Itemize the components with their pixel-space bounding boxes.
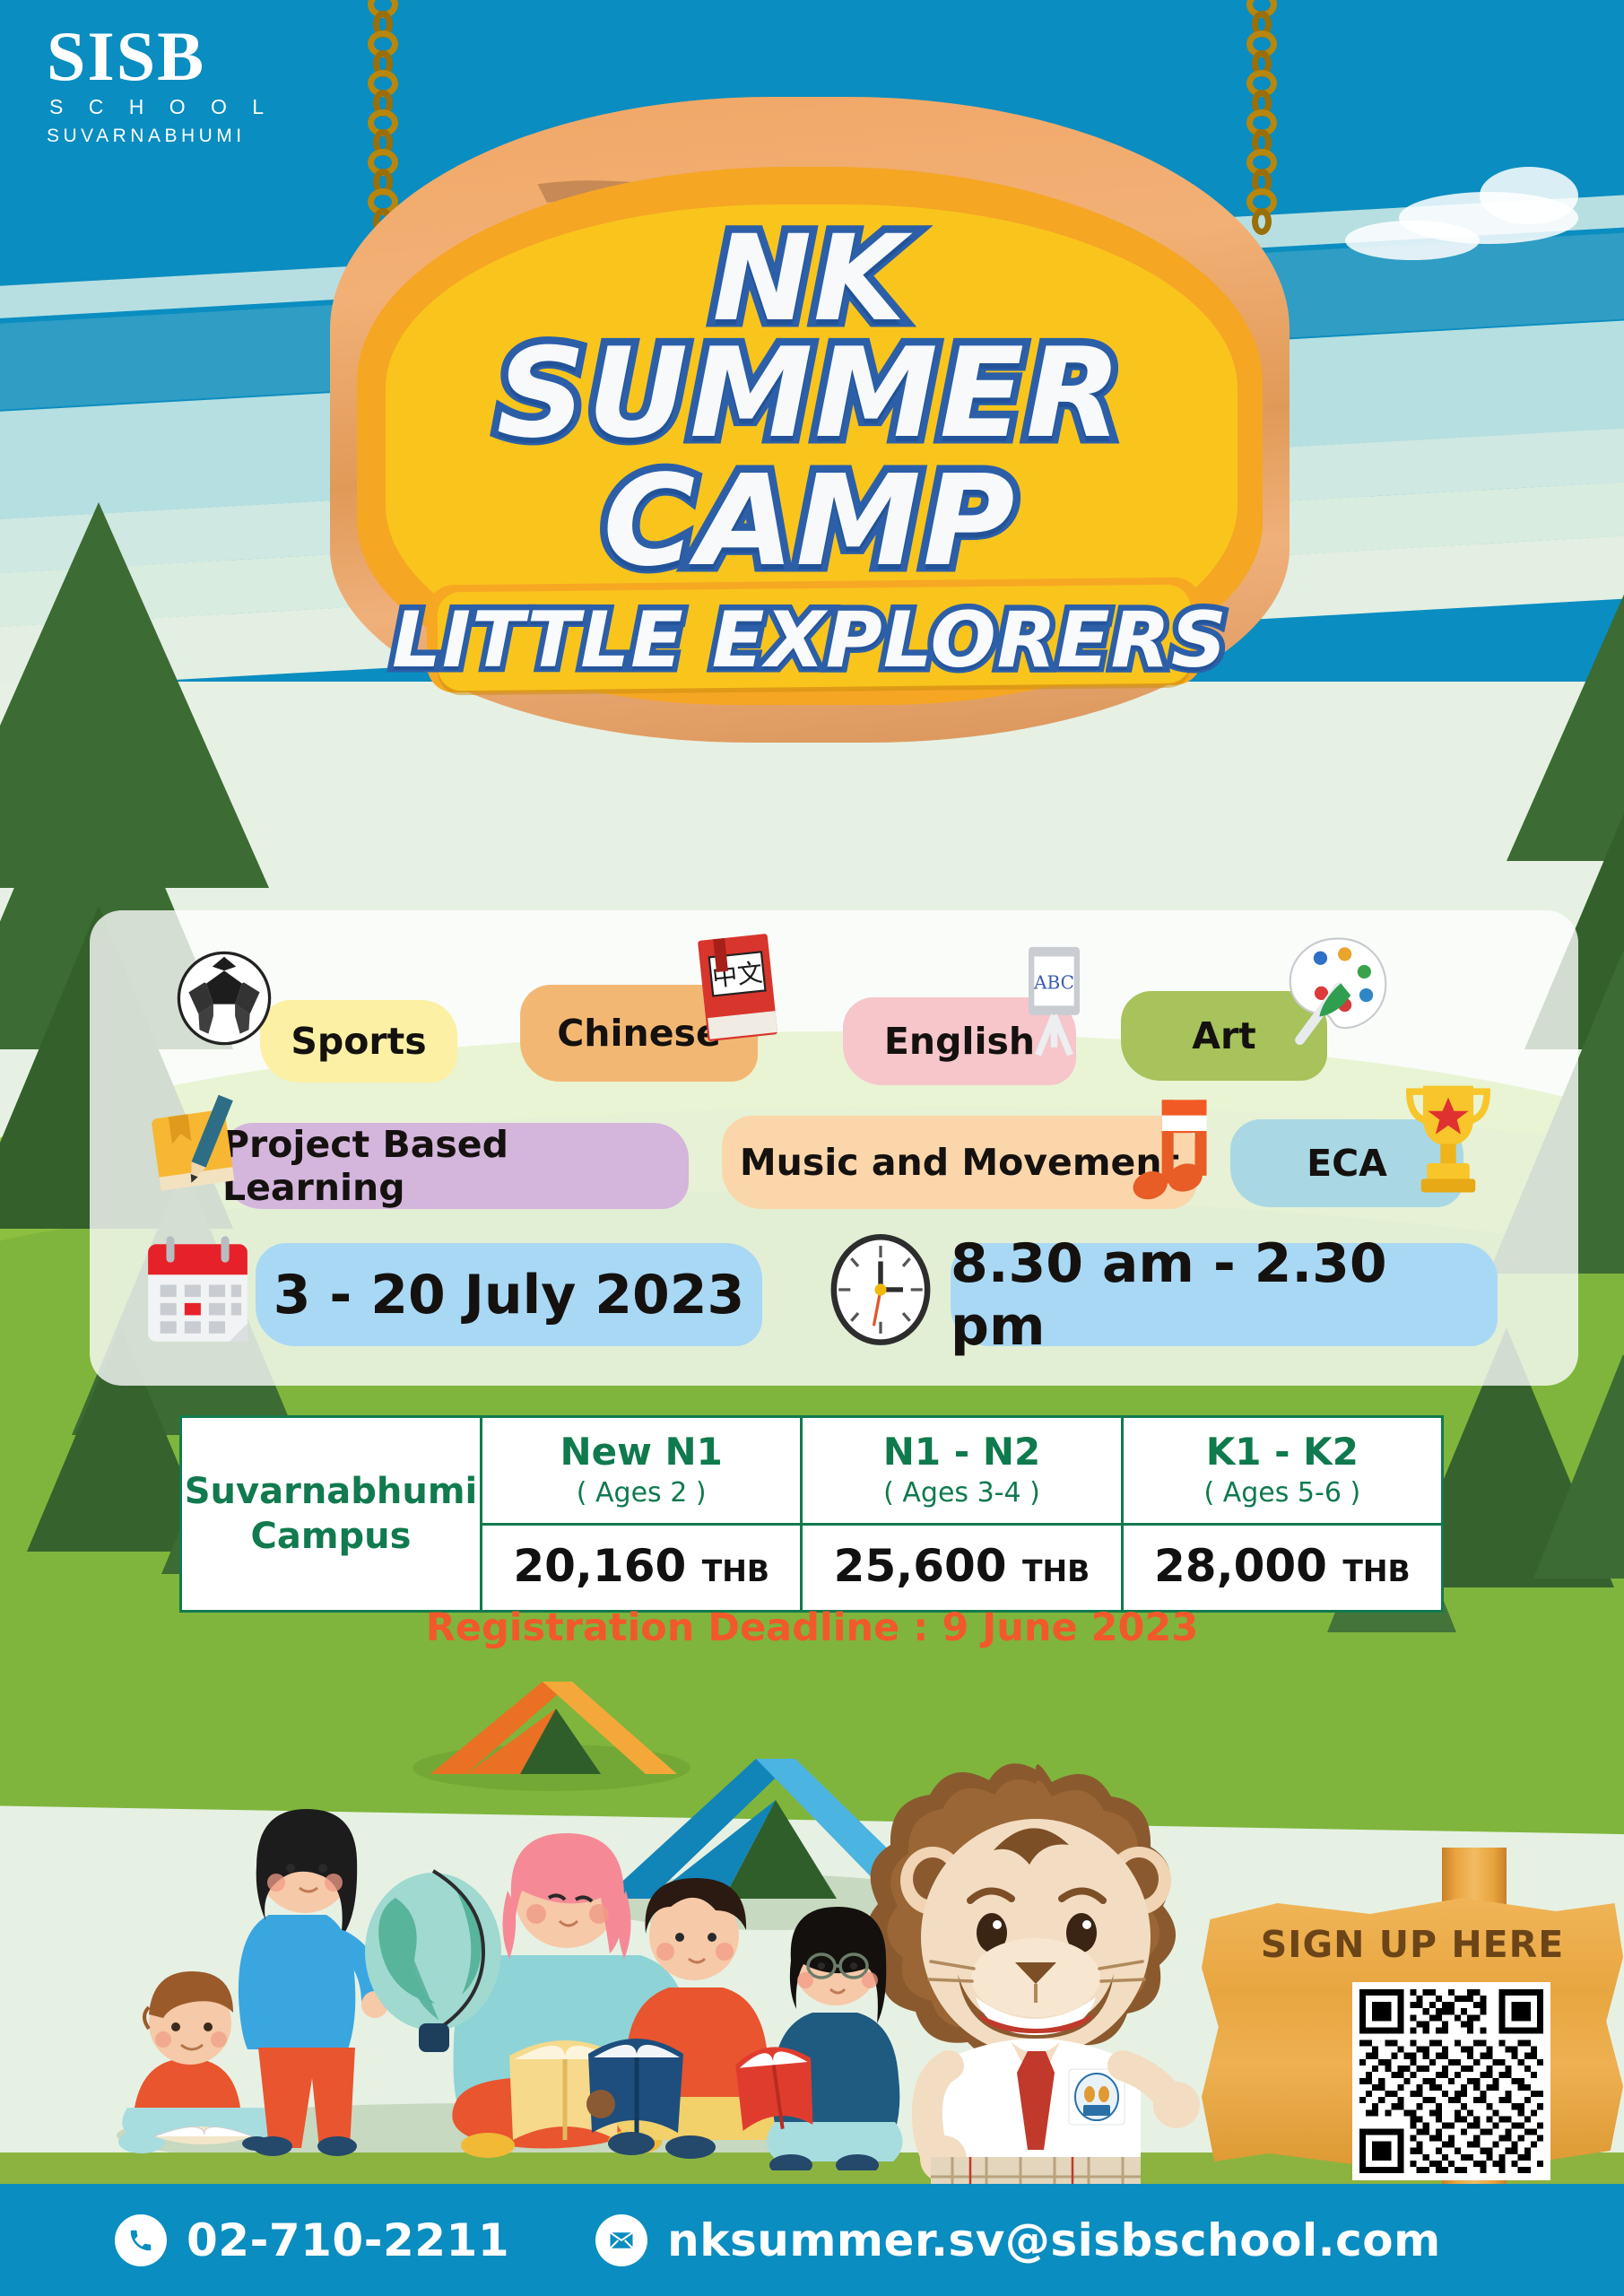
signup-board: SIGN UP HERE — [1202, 1848, 1623, 2206]
cloud-icon — [1480, 167, 1578, 224]
camp-time: 8.30 am - 2.30 pm — [951, 1232, 1498, 1358]
phone-icon — [115, 2214, 167, 2266]
price-value: 28,000 — [1154, 1540, 1327, 1592]
price-value: 20,160 — [513, 1540, 686, 1592]
child-girl-glasses — [735, 1901, 960, 2170]
logo-campus: SUVARNABHUMI — [47, 126, 274, 147]
activity-label: ECA — [1307, 1142, 1387, 1185]
camp-time-pill: 8.30 am - 2.30 pm — [951, 1243, 1498, 1346]
subtitle-text: LITTLE EXPLORERS — [330, 596, 1290, 685]
title-sign: NK SUMMER CAMP LITTLE EXPLORERS — [330, 97, 1290, 814]
email-address[interactable]: nksummer.sv@sisbschool.com — [667, 2214, 1441, 2266]
pricing-table: Suvarnabhumi Campus New N1 ( Ages 2 ) N1… — [179, 1415, 1444, 1613]
grade-label: N1 - N2 — [803, 1431, 1120, 1474]
globe-icon — [354, 1865, 525, 2063]
activity-label: Sports — [291, 1020, 426, 1063]
footer-bar: 02-710-2211 nksummer.sv@sisbschool.com — [0, 2184, 1624, 2296]
sisb-logo: SISB S C H O O L SUVARNABHUMI — [47, 23, 274, 147]
campus-cell: Suvarnabhumi Campus — [181, 1417, 482, 1612]
book-pencil-icon — [143, 1092, 247, 1209]
ages-label: ( Ages 2 ) — [482, 1477, 800, 1509]
logo-school: S C H O O L — [49, 95, 274, 119]
activity-pill-sports: Sports — [260, 1000, 457, 1083]
price-cell: 20,160 THB — [482, 1525, 802, 1612]
calendar-icon — [142, 1234, 254, 1355]
campus-line-1: Suvarnabhumi — [183, 1469, 479, 1514]
price-cell: 28,000 THB — [1122, 1525, 1442, 1612]
clock-icon — [827, 1234, 934, 1351]
pine-tree-icon — [1533, 1354, 1624, 1578]
camp-date: 3 - 20 July 2023 — [274, 1264, 744, 1326]
qr-code-icon[interactable] — [1352, 1982, 1550, 2180]
abc-board-icon: ABC — [1012, 942, 1097, 1063]
poster: SISB S C H O O L SUVARNABHUMI NK SUMMER … — [0, 0, 1624, 2296]
signup-heading: SIGN UP HERE — [1202, 1923, 1623, 1966]
campus-line-2: Campus — [183, 1514, 479, 1559]
grade-label: New N1 — [482, 1431, 800, 1474]
price-currency: THB — [1022, 1553, 1090, 1588]
paint-palette-icon — [1284, 933, 1392, 1049]
soccer-ball-icon — [175, 949, 274, 1052]
logo-name: SISB — [47, 23, 274, 90]
music-note-icon — [1128, 1096, 1227, 1217]
footer-email: nksummer.sv@sisbschool.com — [595, 2214, 1441, 2266]
grade-header-cell: K1 - K2 ( Ages 5-6 ) — [1122, 1417, 1442, 1525]
cloud-icon — [1345, 221, 1480, 260]
activity-label: Music and Movement — [740, 1141, 1179, 1184]
grade-header-cell: New N1 ( Ages 2 ) — [482, 1417, 802, 1525]
footer-phone: 02-710-2211 — [115, 2214, 509, 2266]
registration-deadline: Registration Deadline : 9 June 2023 — [0, 1605, 1624, 1650]
activity-label: Project Based Learning — [222, 1123, 689, 1209]
price-currency: THB — [702, 1553, 769, 1588]
svg-text:ABC: ABC — [1033, 971, 1074, 993]
grade-header-cell: N1 - N2 ( Ages 3-4 ) — [802, 1417, 1122, 1525]
price-value: 25,600 — [834, 1540, 1007, 1592]
envelope-icon — [595, 2214, 647, 2266]
grade-label: K1 - K2 — [1124, 1431, 1441, 1474]
ages-label: ( Ages 3-4 ) — [803, 1477, 1120, 1509]
activity-pill-music-and-movement: Music and Movement — [722, 1116, 1197, 1209]
price-cell: 25,600 THB — [802, 1525, 1122, 1612]
title-line-2: SUMMER — [330, 321, 1290, 465]
chinese-book-icon: 中文 — [690, 931, 789, 1052]
activity-pill-project-based-learning: Project Based Learning — [222, 1123, 689, 1209]
activity-label: Art — [1192, 1014, 1256, 1057]
phone-number[interactable]: 02-710-2211 — [187, 2214, 509, 2266]
ages-label: ( Ages 5-6 ) — [1124, 1477, 1441, 1509]
camp-date-pill: 3 - 20 July 2023 — [256, 1243, 762, 1346]
title-line-3: CAMP — [330, 448, 1290, 595]
price-currency: THB — [1342, 1553, 1410, 1588]
trophy-icon — [1399, 1078, 1498, 1204]
